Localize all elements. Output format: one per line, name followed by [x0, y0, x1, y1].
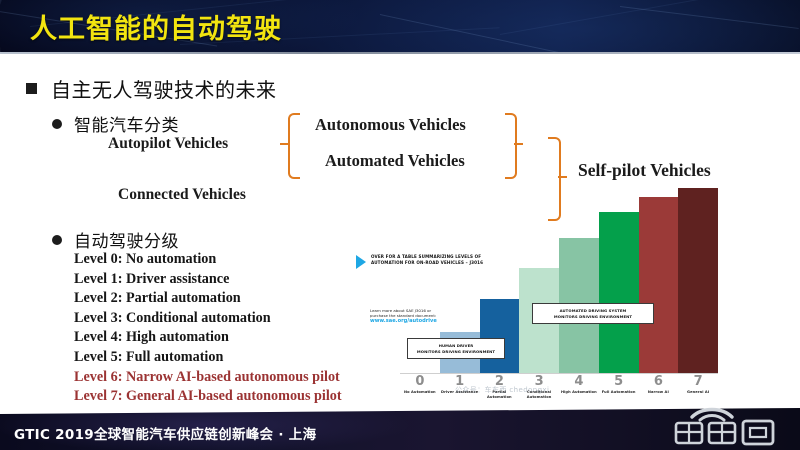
chedongxi-logo [668, 401, 788, 447]
bullet-main: 自主无人驾驶技术的未来 [26, 74, 277, 103]
chart-x-number: 4 [574, 375, 583, 388]
bullet-classification: 智能汽车分类 [52, 111, 179, 136]
chart-x-caption: High Automation [561, 390, 597, 395]
chart-x-label: 0No Automation [400, 374, 440, 412]
callout-human-line-2: MONITORS DRIVING ENVIRONMENT [417, 349, 495, 354]
label-autopilot-vehicles: Autopilot Vehicles [108, 135, 228, 153]
level-item: Level 1: Driver assistance [74, 270, 342, 290]
callout-human-driver: HUMAN DRIVER MONITORS DRIVING ENVIRONMEN… [407, 338, 505, 359]
bullet-main-label: 自主无人驾驶技术的未来 [51, 74, 277, 103]
label-autonomous-vehicles: Autonomous Vehicles [315, 115, 466, 135]
chart-x-number: 7 [694, 375, 703, 388]
automation-levels-bar-chart: 0No Automation1Driver Assistance2Partial… [352, 178, 752, 418]
chart-x-caption: No Automation [404, 390, 436, 395]
bullet-classification-label: 智能汽车分类 [74, 111, 179, 136]
brace-left-inner-tick [280, 143, 289, 145]
callout-auto-line-2: MONITORS DRIVING ENVIRONMENT [554, 314, 632, 319]
levels-list: Level 0: No automationLevel 1: Driver as… [74, 250, 342, 407]
chart-bar [599, 212, 639, 373]
note-learn-more: Learn more about SAE J3016 or purchase t… [370, 308, 495, 325]
header-circuit-line [380, 14, 595, 52]
square-bullet-icon [26, 83, 37, 94]
slide: 人工智能的自动驾驶 自主无人驾驶技术的未来 智能汽车分类 Autopilot V… [0, 0, 800, 450]
brace-right-inner-tick [514, 143, 523, 145]
logo-mark-icon [668, 401, 788, 447]
watermark: 公众号：车东西 chedongxi [455, 385, 549, 395]
play-triangle-icon [356, 255, 366, 269]
chart-x-caption: Narrow AI [648, 390, 669, 395]
chart-x-caption: General AI [687, 390, 709, 395]
brace-left-inner [288, 113, 300, 179]
level-item: Level 0: No automation [74, 250, 342, 270]
level-item: Level 2: Partial automation [74, 289, 342, 309]
bullet-levels: 自动驾驶分级 [52, 227, 179, 252]
slide-header: 人工智能的自动驾驶 [0, 0, 800, 52]
footer-text: GTIC 2019全球智能汽车供应链创新峰会 · 上海 [14, 423, 316, 443]
chart-x-number: 0 [415, 375, 424, 388]
level-item: Level 7: General AI-based autonomous pil… [74, 387, 342, 407]
note-over-text: OVER FOR A TABLE SUMMARIZING LEVELS OF A… [371, 254, 486, 265]
header-circuit-line [620, 6, 799, 29]
level-item: Level 5: Full automation [74, 348, 342, 368]
header-divider [0, 52, 800, 54]
sae-autodrive-link[interactable]: www.sae.org/autodrive [370, 318, 495, 325]
label-connected-vehicles: Connected Vehicles [118, 186, 246, 204]
chart-x-label: 5Full Automation [599, 374, 639, 412]
bullet-levels-label: 自动驾驶分级 [74, 227, 179, 252]
chart-x-label: 4High Automation [559, 374, 599, 412]
callout-automated-system: AUTOMATED DRIVING SYSTEM MONITORS DRIVIN… [532, 303, 654, 324]
level-item: Level 4: High automation [74, 328, 342, 348]
level-item: Level 3: Conditional automation [74, 309, 342, 329]
dot-bullet-icon [52, 235, 62, 245]
chart-x-number: 5 [614, 375, 623, 388]
page-title: 人工智能的自动驾驶 [30, 7, 282, 46]
brace-right-inner [505, 113, 517, 179]
chart-x-number: 6 [654, 375, 663, 388]
dot-bullet-icon [52, 119, 62, 129]
chart-x-caption: Full Automation [602, 390, 636, 395]
chart-bar [678, 188, 718, 373]
level-item: Level 6: Narrow AI-based autonomous pilo… [74, 368, 342, 388]
note-over-for-table: OVER FOR A TABLE SUMMARIZING LEVELS OF A… [356, 254, 486, 269]
label-automated-vehicles: Automated Vehicles [325, 151, 465, 171]
chart-bar [639, 197, 679, 373]
